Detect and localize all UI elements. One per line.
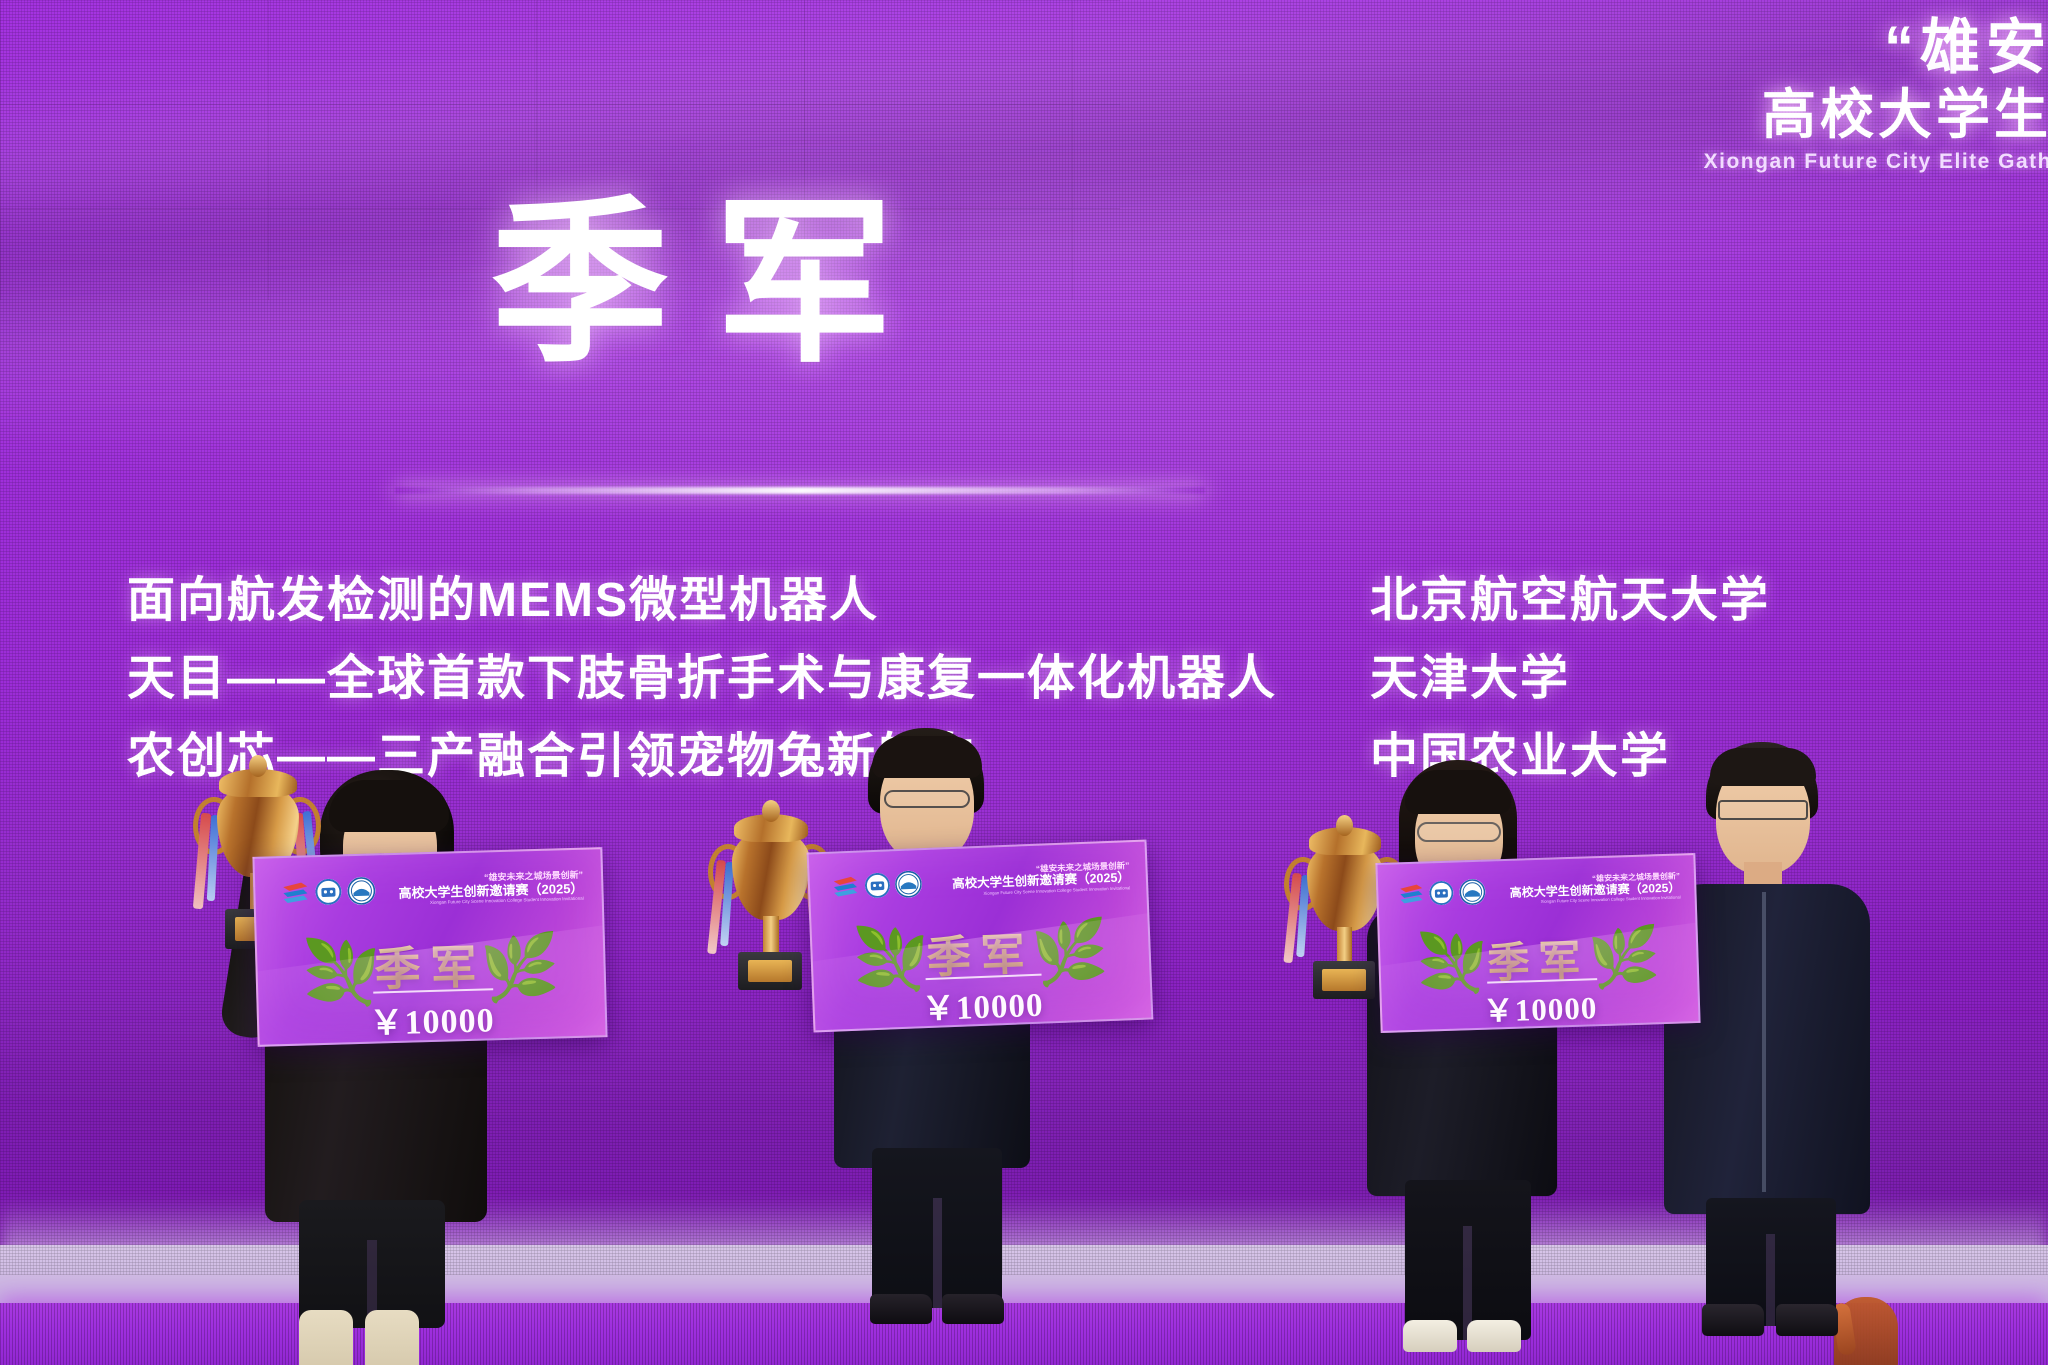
board3-logo-xiongan-icon [1398, 883, 1425, 906]
person4-shoe-right [1776, 1304, 1838, 1336]
trophy1-knob [249, 755, 267, 777]
trophy3-bowl [1307, 843, 1383, 931]
board2-logo-xiongan-icon [832, 874, 860, 898]
award-board-1: “雄安未来之城场景创新” 高校大学生创新邀请赛（2025） Xiongan Fu… [252, 847, 607, 1047]
person2-glasses-icon [884, 790, 970, 808]
board3-rank-label: 季军 [1380, 923, 1698, 994]
board1-laurel-right: 🌿 [479, 934, 560, 1000]
trophy2-nameplate [748, 960, 792, 982]
page-title: 季军 [0, 195, 1430, 373]
person1-boot-left [299, 1310, 353, 1365]
trophy2-knob [762, 800, 780, 822]
board2-logo-circle-university-icon [895, 870, 923, 898]
person2-fringe [872, 736, 982, 778]
board3-header: “雄安未来之城场景创新” 高校大学生创新邀请赛（2025） Xiongan Fu… [1490, 872, 1681, 906]
board2-rank-label: 季军 [812, 914, 1150, 991]
award-presenter [1658, 742, 1888, 1342]
board1-logo-group [281, 877, 378, 906]
trophy3-knob [1336, 815, 1353, 836]
board1-logo-circle-blue-icon [315, 878, 342, 905]
stage-photo: “雄安 高校大学生 Xiongan Future City Elite Gath… [0, 0, 2048, 1365]
board1-logo-circle-university-icon [347, 877, 376, 906]
person2-leg-gap [933, 1198, 942, 1310]
winner-university: 北京航空航天大学 [1370, 560, 1770, 630]
board2-separator [926, 974, 1042, 980]
board1-separator [373, 988, 493, 993]
person4-leg-gap [1766, 1234, 1775, 1326]
winner-university: 天津大学 [1370, 638, 1570, 708]
person3-glasses-icon [1417, 822, 1501, 842]
board1-logo-xiongan-icon [281, 880, 310, 905]
board3-logo-circle-blue-icon [1429, 881, 1454, 906]
board2-logo-group [831, 870, 926, 900]
person1-boot-right [365, 1310, 419, 1365]
person3-shoe-left [1403, 1320, 1457, 1352]
winner-row: 天目——全球首款下肢骨折手术与康复一体化机器人 天津大学 [0, 638, 2048, 716]
board1-prize-amount: ￥10000 [258, 989, 605, 1047]
event-logo-line2: 高校大学生 [1704, 88, 2048, 142]
trophy2-bowl [732, 830, 810, 920]
event-logo: “雄安 高校大学生 Xiongan Future City Elite Gath [1704, 18, 2048, 172]
person4-shoe-left [1702, 1304, 1764, 1336]
person1-fringe [329, 780, 449, 832]
award-board-3: “雄安未来之城场景创新” 高校大学生创新邀请赛（2025） Xiongan Fu… [1375, 853, 1700, 1033]
winner-row: 面向航发检测的MEMS微型机器人 北京航空航天大学 [0, 560, 2048, 638]
board1-rank-label: 季军 [257, 927, 605, 1003]
event-logo-line1: “雄安 [1704, 18, 2048, 78]
person3-fringe [1405, 770, 1511, 814]
trophy3-nameplate [1322, 969, 1366, 991]
person2-shoe-right [942, 1294, 1004, 1324]
board2-laurel-right: 🌿 [1030, 921, 1110, 986]
person3-shoe-right [1467, 1320, 1521, 1352]
winner-project-name: 天目——全球首款下肢骨折手术与康复一体化机器人 [127, 638, 1277, 708]
board3-separator [1487, 978, 1597, 983]
trophy3-stem [1337, 927, 1352, 965]
event-logo-line3-english: Xiongan Future City Elite Gath [1704, 151, 2048, 172]
board3-logo-circle-university-icon [1459, 879, 1486, 906]
board3-laurel-right: 🌿 [1587, 928, 1661, 988]
person4-jacket-zip [1762, 892, 1766, 1192]
person4-fringe [1710, 748, 1816, 786]
board2-header: “雄安未来之城场景创新” 高校大学生创新邀请赛（2025） Xiongan Fu… [929, 860, 1130, 897]
person4-glasses-icon [1718, 800, 1808, 820]
title-divider [395, 487, 1205, 494]
trophy2-stem [763, 916, 779, 956]
board1-header: “雄安未来之城场景创新” 高校大学生创新邀请赛（2025） Xiongan Fu… [373, 870, 584, 907]
board3-logo-group [1398, 880, 1489, 907]
person2-shoe-left [870, 1294, 932, 1324]
winner-project-name: 面向航发检测的MEMS微型机器人 [127, 560, 879, 630]
board2-logo-circle-blue-icon [864, 872, 890, 898]
award-board-2: “雄安未来之城场景创新” 高校大学生创新邀请赛（2025） Xiongan Fu… [807, 840, 1154, 1033]
